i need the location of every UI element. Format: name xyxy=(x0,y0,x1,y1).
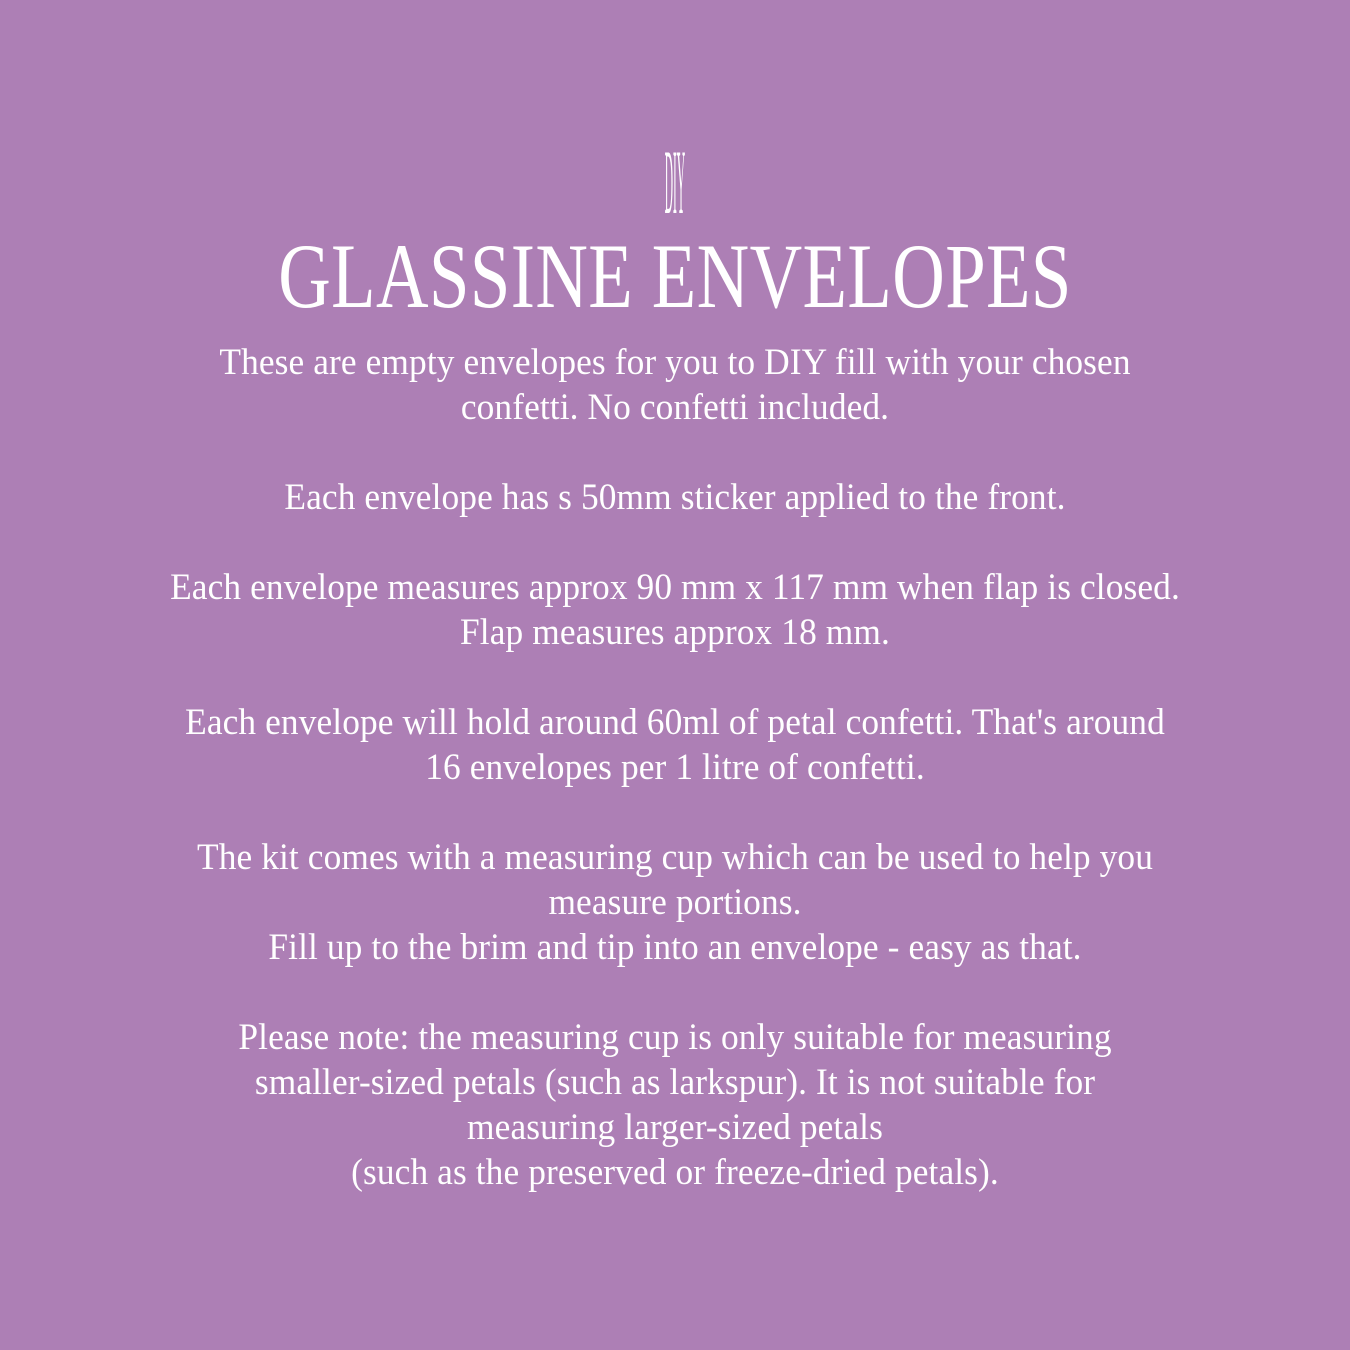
paragraph-dimensions: Each envelope measures approx 90 mm x 11… xyxy=(30,564,1320,654)
paragraph-line: Fill up to the brim and tip into an enve… xyxy=(50,924,1300,969)
product-description: These are empty envelopes for you to DIY… xyxy=(30,321,1320,1194)
paragraph-sticker: Each envelope has s 50mm sticker applied… xyxy=(30,474,1320,519)
paragraph-line: confetti. No confetti included. xyxy=(50,384,1300,429)
paragraph-line: (such as the preserved or freeze-dried p… xyxy=(50,1149,1300,1194)
paragraph-line: The kit comes with a measuring cup which… xyxy=(50,834,1300,879)
paragraph-line: 16 envelopes per 1 litre of confetti. xyxy=(50,744,1300,789)
paragraph-line: Each envelope measures approx 90 mm x 11… xyxy=(50,564,1300,609)
paragraph-line: Please note: the measuring cup is only s… xyxy=(50,1014,1300,1059)
paragraph-line: measuring larger-sized petals xyxy=(50,1104,1300,1149)
paragraph-intro: These are empty envelopes for you to DIY… xyxy=(30,339,1320,429)
paragraph-line: measure portions. xyxy=(50,879,1300,924)
paragraph-measuring-cup: The kit comes with a measuring cup which… xyxy=(30,834,1320,969)
product-info-poster: DIY GLASSINE ENVELOPES These are empty e… xyxy=(0,0,1350,1350)
page-title-line-2: GLASSINE ENVELOPES xyxy=(141,232,1209,320)
paragraph-line: Flap measures approx 18 mm. xyxy=(50,609,1300,654)
paragraph-please-note: Please note: the measuring cup is only s… xyxy=(30,1014,1320,1194)
paragraph-line: Each envelope has s 50mm sticker applied… xyxy=(50,474,1300,519)
page-title: DIY GLASSINE ENVELOPES xyxy=(0,0,1350,321)
paragraph-line: These are empty envelopes for you to DIY… xyxy=(50,339,1300,384)
page-title-line-1: DIY xyxy=(591,138,759,226)
paragraph-line: smaller-sized petals (such as larkspur).… xyxy=(50,1059,1300,1104)
paragraph-capacity: Each envelope will hold around 60ml of p… xyxy=(30,699,1320,789)
paragraph-line: Each envelope will hold around 60ml of p… xyxy=(50,699,1300,744)
